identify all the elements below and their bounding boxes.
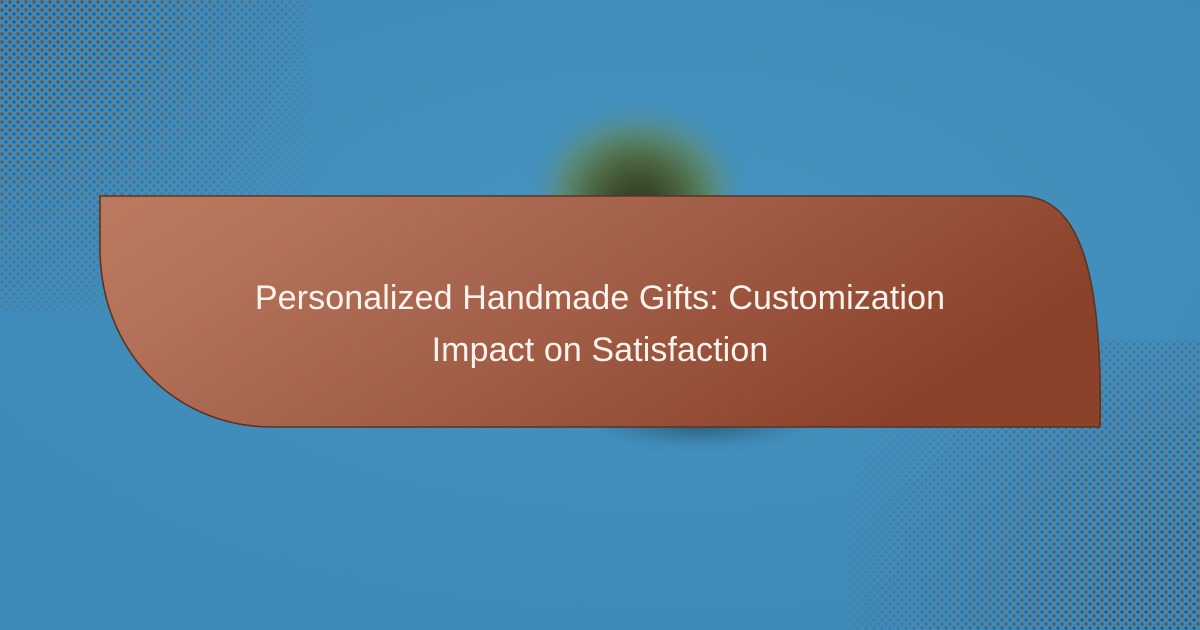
page-title: Personalized Handmade Gifts: Customizati… — [180, 272, 1020, 376]
share-card-canvas: Personalized Handmade Gifts: Customizati… — [0, 0, 1200, 630]
page-title-line-1: Personalized Handmade Gifts: Customizati… — [180, 272, 1020, 324]
page-title-line-2: Impact on Satisfaction — [180, 324, 1020, 376]
